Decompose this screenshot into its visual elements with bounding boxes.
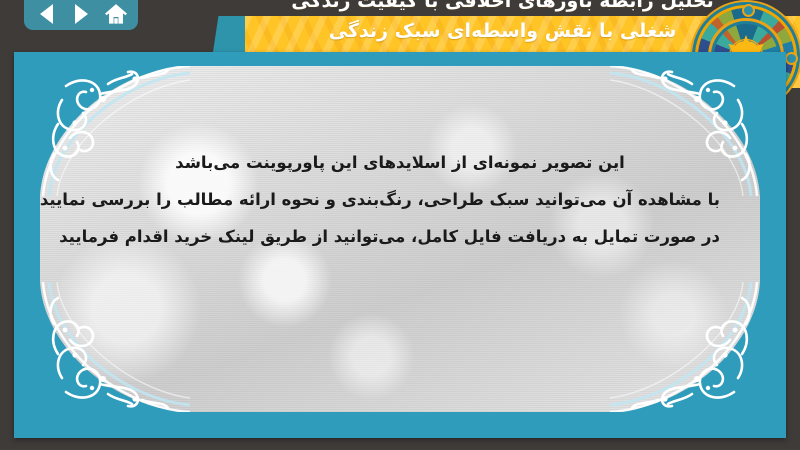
body-line-1: این تصویر نمونه‌ای از اسلایدهای این پاور…	[80, 144, 720, 181]
back-arrow-icon	[40, 4, 53, 24]
navigation-bar	[24, 0, 138, 30]
body-line-3: در صورت تمایل به دریافت فایل کامل، می‌تو…	[80, 218, 720, 255]
slide-body-text: این تصویر نمونه‌ای از اسلایدهای این پاور…	[80, 144, 720, 255]
medallion-dot-right	[785, 52, 798, 65]
forward-button[interactable]	[70, 3, 92, 25]
arabesque-corner-ornament-bottom-left	[40, 282, 190, 412]
arabesque-corner-ornament-bottom-right	[610, 282, 760, 412]
home-button[interactable]	[105, 3, 127, 25]
slide-content-area: این تصویر نمونه‌ای از اسلایدهای این پاور…	[40, 66, 760, 412]
slide-canvas: این تصویر نمونه‌ای از اسلایدهای این پاور…	[14, 52, 786, 438]
body-line-2: با مشاهده آن می‌توانید سبک طراحی، رنگ‌بن…	[80, 181, 720, 218]
medallion-dot-top	[742, 4, 755, 17]
home-icon	[105, 3, 127, 26]
forward-arrow-icon	[75, 4, 88, 24]
back-button[interactable]	[35, 3, 57, 25]
title-line-1: تحلیل رابطه باورهای اخلاقی با کیفیت زندگ…	[213, 0, 792, 16]
slide-viewer: تحلیل رابطه باورهای اخلاقی با کیفیت زندگ…	[0, 0, 800, 450]
